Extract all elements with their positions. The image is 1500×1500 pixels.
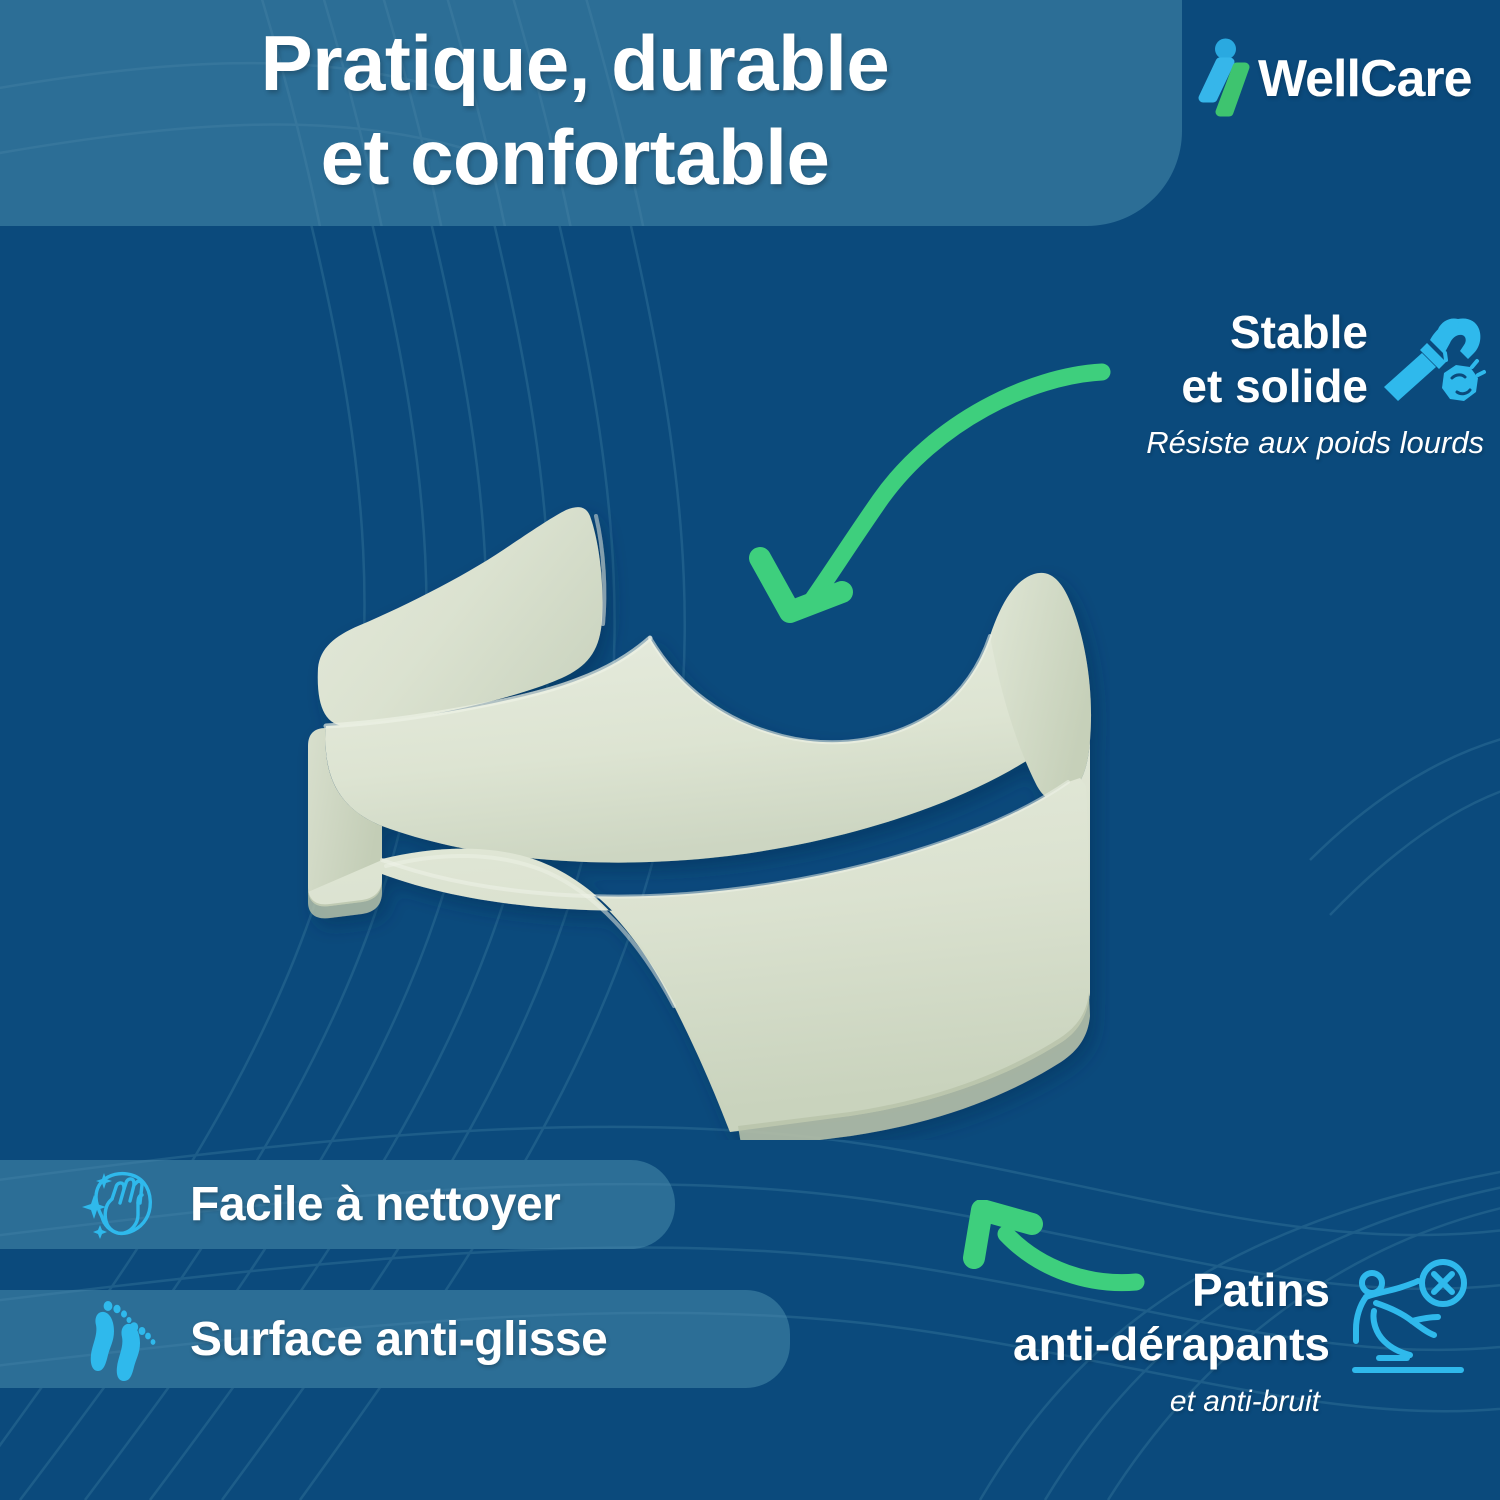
brand-name: WellCare — [1258, 49, 1472, 109]
callout-patins-headline: Patins anti-dérapants — [1000, 1263, 1330, 1371]
feature-label-anti-slip: Surface anti-glisse — [190, 1312, 607, 1367]
callout-stable: Stable et solide — [1030, 305, 1490, 461]
feature-badge-anti-slip: Surface anti-glisse — [0, 1290, 790, 1388]
person-slipping-prohibited-icon — [1346, 1255, 1470, 1379]
callout-stable-subtext: Résiste aux poids lourds — [1030, 425, 1490, 461]
brand-logo: WellCare — [1196, 38, 1472, 120]
title-line-2: et confortable — [0, 110, 1150, 204]
wellcare-person-mark-icon — [1196, 38, 1250, 120]
hammer-striking-rock-icon — [1382, 309, 1490, 409]
callout-stable-headline-line1: Stable — [1181, 305, 1368, 359]
footprints-icon — [78, 1297, 162, 1381]
infographic-canvas: Pratique, durable et confortable WellCar… — [0, 0, 1500, 1500]
callout-stable-headline: Stable et solide — [1181, 305, 1368, 413]
title-line-1: Pratique, durable — [0, 16, 1150, 110]
callout-patins-subtext: et anti-bruit — [1000, 1385, 1470, 1419]
callout-patins: Patins anti-dérapants — [1000, 1255, 1470, 1419]
page-title: Pratique, durable et confortable — [0, 16, 1150, 204]
hand-wiping-sparkle-icon — [78, 1163, 162, 1247]
callout-patins-headline-line1: Patins — [1000, 1263, 1330, 1317]
callout-stable-headline-line2: et solide — [1181, 359, 1368, 413]
feature-badge-easy-clean: Facile à nettoyer — [0, 1160, 675, 1249]
feature-label-easy-clean: Facile à nettoyer — [190, 1177, 560, 1232]
callout-patins-headline-line2: anti-dérapants — [1000, 1317, 1330, 1371]
